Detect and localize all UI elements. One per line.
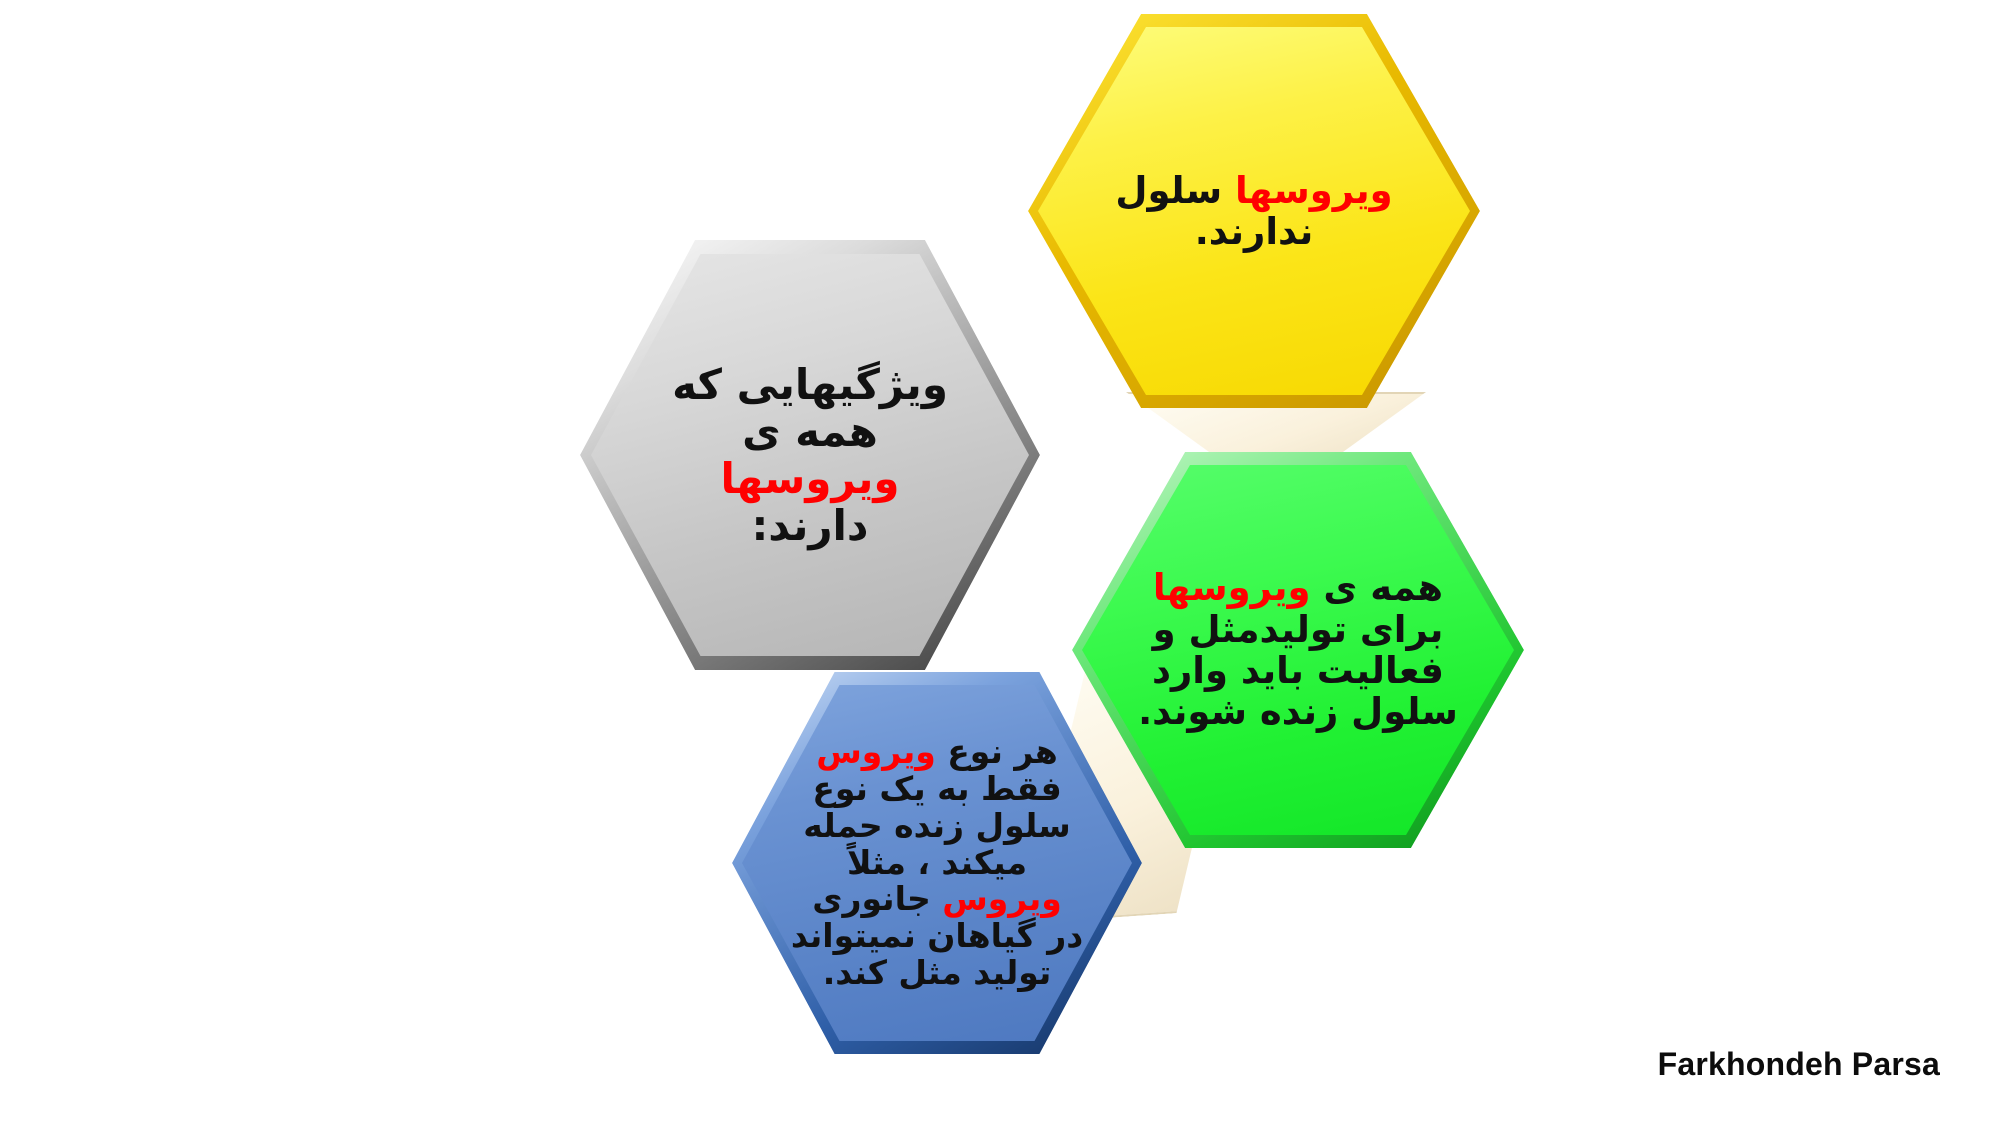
hexagon-gray-title[interactable]: ویژگیهایی که همه ی ویروسها دارند:: [580, 240, 1040, 670]
author-signature: Farkhondeh Parsa: [1658, 1046, 1940, 1083]
hexagon-yellow-fact-1[interactable]: ویروسها سلول ندارند.: [1028, 14, 1480, 408]
slide-canvas: ویروسها سلول ندارند. ویژگیهایی که همه ی …: [0, 0, 2000, 1125]
